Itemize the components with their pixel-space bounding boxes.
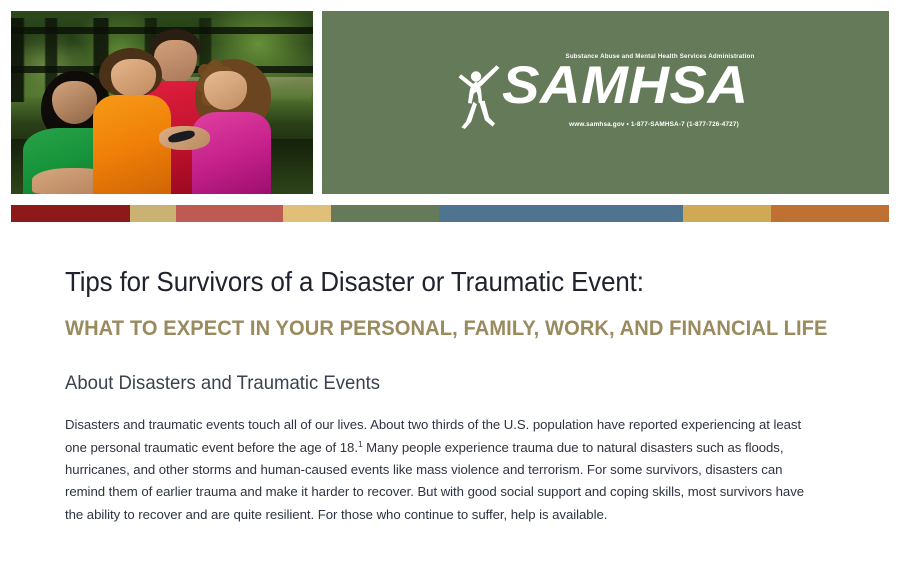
stripe-segment-dark-red: [11, 205, 130, 222]
logo-band: Substance Abuse and Mental Health Servic…: [322, 11, 889, 194]
document-header: Substance Abuse and Mental Health Servic…: [0, 0, 900, 196]
page-title: Tips for Survivors of a Disaster or Trau…: [65, 266, 808, 297]
photo-person-girl-shirt: [192, 112, 271, 194]
color-stripe-bar: [11, 205, 889, 222]
stripe-segment-tan: [130, 205, 176, 222]
stripe-segment-steel-blue: [439, 205, 683, 222]
samhsa-wordmark: SAMHSA: [502, 59, 749, 112]
photo-person-girl-face: [204, 71, 246, 109]
stripe-segment-orange: [771, 205, 889, 222]
stripe-segment-olive: [331, 205, 439, 222]
section-heading-about: About Disasters and Traumatic Events: [65, 372, 816, 394]
samhsa-logo: Substance Abuse and Mental Health Servic…: [452, 53, 872, 153]
document-content: Tips for Survivors of a Disaster or Trau…: [65, 248, 855, 539]
stripe-segment-gold-tan: [283, 205, 331, 222]
running-figure-icon: [456, 63, 502, 129]
stripe-segment-salmon: [176, 205, 283, 222]
page-subtitle: WHAT TO EXPECT IN YOUR PERSONAL, FAMILY,…: [65, 316, 804, 340]
stripe-segment-gold: [683, 205, 771, 222]
body-paragraph: Disasters and traumatic events touch all…: [65, 414, 825, 526]
samhsa-url-phone: www.samhsa.gov • 1-877-SAMHSA-7 (1-877-7…: [504, 121, 804, 128]
photo-person-boy-shirt: [93, 95, 172, 194]
document-page: Substance Abuse and Mental Health Servic…: [0, 0, 900, 567]
family-photo: [11, 11, 313, 194]
